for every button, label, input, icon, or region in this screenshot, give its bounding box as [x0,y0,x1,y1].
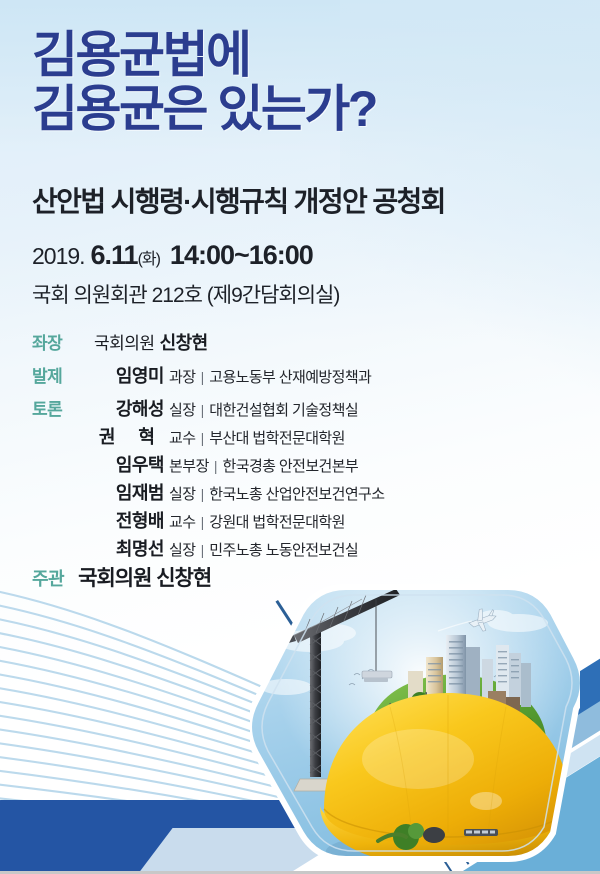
panelist-affiliation: 한국경총 안전보건본부 [223,455,359,476]
presenter-name: 임영미 [94,362,164,388]
panelist-affiliation: 대한건설협회 기술정책실 [209,399,358,420]
program-row-panelist-2: 임우택 본부장 | 한국경총 안전보건본부 [32,451,492,477]
panelist-name: 강해성 [94,395,164,421]
panelist-affiliation: 한국노총 산업안전보건연구소 [209,483,384,504]
title-line-2: 김용균은 있는가? [32,82,376,136]
blue-diagonal-band [0,800,420,874]
program-row-panelist-5: 최명선 실장 | 민주노총 노동안전보건실 [32,535,492,561]
bush-detail [378,823,445,850]
panelist-title: 교수 [169,427,196,448]
panelist-separator: | [201,430,205,446]
chair-role-label: 좌장 [32,329,94,354]
panelist-affiliation: 민주노총 노동안전보건실 [209,539,358,560]
panelist-separator: | [201,542,205,558]
presenter-separator: | [201,369,205,385]
panelist-name: 임우택 [94,451,164,477]
title-line-1: 김용균법에 [32,28,376,82]
trees [371,692,545,770]
skyscrapers [408,635,531,715]
diagonal-accent-line-2 [304,612,469,865]
event-date: 6.11 [91,240,138,270]
hardhat-globe-illustration [250,583,580,874]
light-blue-diagonal-band [127,828,502,874]
right-band-five [276,744,544,874]
event-datetime: 2019. 6.11(화) 14:00~16:00 [32,240,313,271]
main-title: 김용균법에 김용균은 있는가? [32,28,376,136]
diagonal-accent-line-3 [408,806,491,874]
event-day-of-week: (화) [138,251,160,268]
red-car [400,723,412,730]
event-year: 2019. [32,243,85,269]
right-band-three [456,682,600,840]
panelist-title: 실장 [169,483,196,504]
construction-crane [280,589,400,791]
presenter-title: 과장 [169,366,196,387]
diagonal-accent-line-1 [275,600,441,853]
presenter-role-label: 발제 [32,362,94,387]
panelist-affiliation: 부산대 법학전문대학원 [209,427,345,448]
poster-canvas: 김용균법에 김용균은 있는가? 산안법 시행령·시행규칙 개정안 공청회 201… [0,0,600,874]
event-time: 14:00~16:00 [170,240,313,270]
program-row-panelist-4: 전형배 교수 | 강원대 법학전문대학원 [32,507,492,533]
bus [446,707,470,717]
panelist-name: 임재범 [94,479,164,505]
train-detail [464,829,498,836]
right-band-six [413,770,600,874]
panelist-separator: | [201,514,205,530]
chair-prefix: 국회의원 [94,329,155,354]
subtitle: 산안법 시행령·시행규칙 개정안 공청회 [32,180,445,220]
panelist-separator: | [214,458,218,474]
right-band-one [448,632,600,784]
panelist-separator: | [201,402,205,418]
hexagon-frame [250,587,580,859]
yellow-hardhat [320,693,572,871]
event-venue: 국회 의원회관 212호 (제9간담회의실) [32,279,339,309]
panelist-separator: | [201,486,205,502]
program-row-panelist-0: 토론 강해성 실장 | 대한건설협회 기술정책실 [32,395,492,421]
right-band-four [411,716,600,874]
panelist-affiliation: 강원대 법학전문대학원 [209,511,345,532]
host-value: 국회의원 신창현 [78,562,211,592]
discussion-role-label: 토론 [32,395,94,420]
panelist-name: 최명선 [94,535,164,561]
program-row-chair: 좌장 국회의원 신창현 [32,329,492,355]
panelist-title: 본부장 [169,455,209,476]
program-row-panelist-1: 권 혁 교수 | 부산대 법학전문대학원 [32,423,492,449]
right-band-two [452,660,600,815]
program-row-presenter: 발제 임영미 과장 | 고용노동부 산재예방정책과 [32,362,492,388]
program-list: 좌장 국회의원 신창현 발제 임영미 과장 | 고용노동부 산재예방정책과 토론… [32,329,492,563]
panelist-title: 교수 [169,511,196,532]
host-row: 주관 국회의원 신창현 [32,562,211,592]
airplane [467,606,499,633]
panelist-title: 실장 [169,539,196,560]
presenter-affiliation: 고용노동부 산재예방정책과 [209,366,371,387]
panelist-name: 전형배 [94,507,164,533]
panelist-name: 권 혁 [94,423,164,449]
pale-diagonal-band [0,846,323,874]
program-row-panelist-3: 임재범 실장 | 한국노총 산업안전보건연구소 [32,479,492,505]
chair-name: 신창현 [160,329,208,355]
green-globe-city [368,635,546,785]
wave-stripes-decoration [0,560,480,874]
panelist-title: 실장 [169,399,196,420]
white-van [378,733,388,739]
host-label: 주관 [32,565,64,591]
